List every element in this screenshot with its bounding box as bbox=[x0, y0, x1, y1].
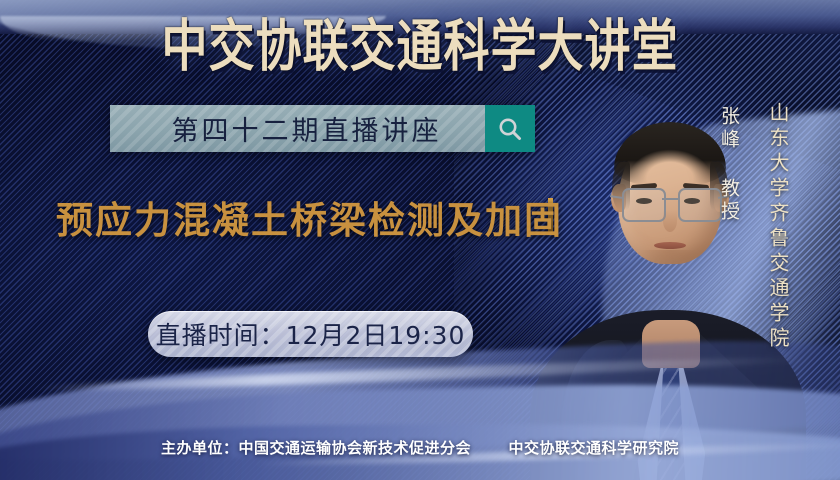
live-time-pill: 直播时间：12月2日19:30 bbox=[148, 311, 473, 357]
live-time-text: 直播时间：12月2日19:30 bbox=[156, 316, 466, 352]
episode-label: 第四十二期直播讲座 bbox=[110, 109, 485, 148]
poster-content: 中交协联交通科学大讲堂 第四十二期直播讲座 预应力混凝土桥梁检测及加固 直播时间… bbox=[0, 0, 840, 480]
footer-organizer-secondary: 中交协联交通科学研究院 bbox=[508, 439, 679, 457]
speaker-organization: 山东大学齐鲁交通学院 bbox=[764, 102, 793, 352]
footer-organizers: 主办单位：中国交通运输协会新技术促进分会 中交协联交通科学研究院 bbox=[0, 437, 840, 458]
speaker-name: 张峰 bbox=[716, 106, 743, 152]
live-lecture-poster: 中交协联交通科学大讲堂 第四十二期直播讲座 预应力混凝土桥梁检测及加固 直播时间… bbox=[0, 0, 840, 480]
episode-banner: 第四十二期直播讲座 bbox=[110, 105, 535, 152]
speaker-role: 教授 bbox=[716, 178, 743, 224]
search-button[interactable] bbox=[485, 105, 535, 152]
footer-organizer-primary: 主办单位：中国交通运输协会新技术促进分会 bbox=[161, 439, 471, 457]
search-icon bbox=[497, 116, 523, 142]
lecture-topic: 预应力混凝土桥梁检测及加固 bbox=[56, 190, 563, 244]
main-title: 中交协联交通科学大讲堂 bbox=[0, 18, 840, 74]
